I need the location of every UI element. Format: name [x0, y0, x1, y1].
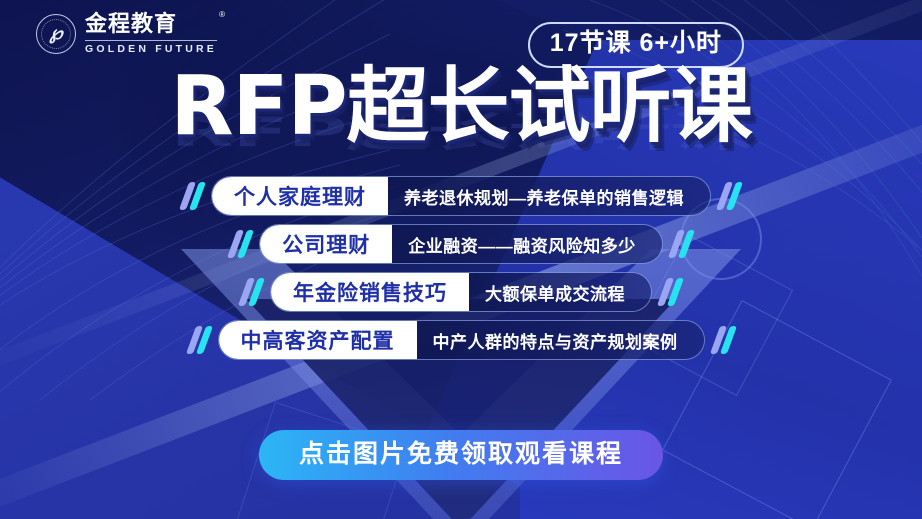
slash-ornament-right-icon [715, 326, 732, 354]
logo-name-cn: 金程教育® [85, 13, 217, 35]
logo-name-cn-text: 金程教育 [85, 11, 177, 36]
course-category-label: 中高客资产配置 [219, 321, 417, 359]
logo-emblem-glyph: ℘ [37, 15, 75, 53]
page-title: RFP超长试听课 [170, 66, 751, 148]
course-list: 个人家庭理财 养老退休规划—养老保单的销售逻辑 公司理财 企业融资——融资风险知… [0, 176, 922, 360]
page-title-wrap: RFP超长试听课 [0, 66, 922, 148]
list-item: 公司理财 企业融资——融资风险知多少 [232, 224, 690, 264]
course-description: 企业融资——融资风险知多少 [392, 225, 662, 263]
course-description: 大额保单成交流程 [469, 273, 651, 311]
slash-ornament-left-icon [232, 230, 249, 258]
course-capsule[interactable]: 年金险销售技巧 大额保单成交流程 [270, 272, 652, 312]
course-category-label: 公司理财 [260, 225, 392, 263]
logo-emblem-icon: ℘ [36, 14, 76, 54]
brand-logo[interactable]: ℘ 金程教育® GOLDEN FUTURE [36, 13, 217, 55]
slash-ornament-left-icon [184, 182, 201, 210]
course-category-label: 年金险销售技巧 [271, 273, 469, 311]
slash-ornament-left-icon [243, 278, 260, 306]
list-item: 中高客资产配置 中产人群的特点与资产规划案例 [191, 320, 732, 360]
course-description: 养老退休规划—养老保单的销售逻辑 [388, 177, 710, 215]
slash-ornament-right-icon [673, 230, 690, 258]
slash-ornament-left-icon [191, 326, 208, 354]
course-capsule[interactable]: 个人家庭理财 养老退休规划—养老保单的销售逻辑 [211, 176, 711, 216]
course-category-label: 个人家庭理财 [212, 177, 388, 215]
logo-text-block: 金程教育® GOLDEN FUTURE [85, 13, 217, 55]
course-capsule[interactable]: 中高客资产配置 中产人群的特点与资产规划案例 [218, 320, 705, 360]
course-capsule[interactable]: 公司理财 企业融资——融资风险知多少 [259, 224, 663, 264]
list-item: 年金险销售技巧 大额保单成交流程 [243, 272, 679, 312]
list-item: 个人家庭理财 养老退休规划—养老保单的销售逻辑 [184, 176, 738, 216]
promo-banner: ℘ 金程教育® GOLDEN FUTURE 17节课 6+小时 RFP超长试听课… [0, 0, 922, 519]
logo-name-en: GOLDEN FUTURE [85, 40, 217, 55]
slash-ornament-right-icon [721, 182, 738, 210]
slash-ornament-right-icon [662, 278, 679, 306]
cta-button[interactable]: 点击图片免费领取观看课程 [259, 430, 663, 480]
course-description: 中产人群的特点与资产规划案例 [417, 321, 704, 359]
registered-mark-icon: ® [219, 11, 226, 19]
